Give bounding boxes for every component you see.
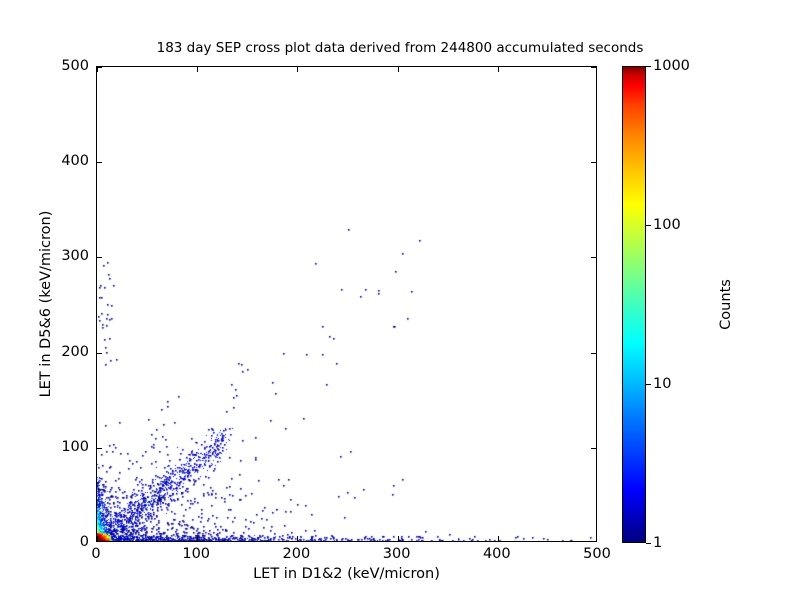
colorbar-label: Counts [718,66,734,543]
x-tick [297,536,298,541]
y-axis-label: LET in D5&6 (keV/micron) [38,66,54,542]
y-tick [97,448,102,449]
x-tick-label: 200 [283,546,311,562]
colorbar-tick [646,384,651,385]
x-tick [398,536,399,541]
colorbar-tick [646,543,651,544]
y-tick [97,353,102,354]
colorbar-tick-label: 1 [653,535,662,551]
scatter-density-plot [97,67,597,542]
x-axis-label: LET in D1&2 (keV/micron) [96,566,597,582]
x-tick-label: 500 [583,546,611,562]
x-tick-top [297,67,298,72]
chart-title-line-1: 183 day SEP cross plot data derived from… [0,40,800,57]
y-tick-right [591,353,596,354]
y-tick [97,257,102,258]
x-tick-top [398,67,399,72]
y-tick-right [591,448,596,449]
x-tick [197,536,198,541]
y-tick [97,162,102,163]
x-tick-label: 400 [483,546,511,562]
y-tick-right [591,67,596,68]
colorbar-gradient [622,66,646,543]
x-tick-top [197,67,198,72]
colorbar-tick [646,66,651,67]
figure-canvas: 183 day SEP cross plot data derived from… [0,0,800,600]
x-tick-label: 300 [383,546,411,562]
x-tick [97,536,98,541]
x-tick-top [498,67,499,72]
colorbar-tick [646,225,651,226]
y-tick-right [591,257,596,258]
y-tick [97,67,102,68]
x-tick [498,536,499,541]
colorbar-tick-label: 1000 [653,58,690,74]
colorbar-tick-label: 10 [653,376,671,392]
plot-axes [96,66,597,542]
x-tick-label: 100 [182,546,210,562]
y-tick-right [591,162,596,163]
colorbar-tick-label: 100 [653,217,681,233]
x-tick-label: 0 [91,546,100,562]
